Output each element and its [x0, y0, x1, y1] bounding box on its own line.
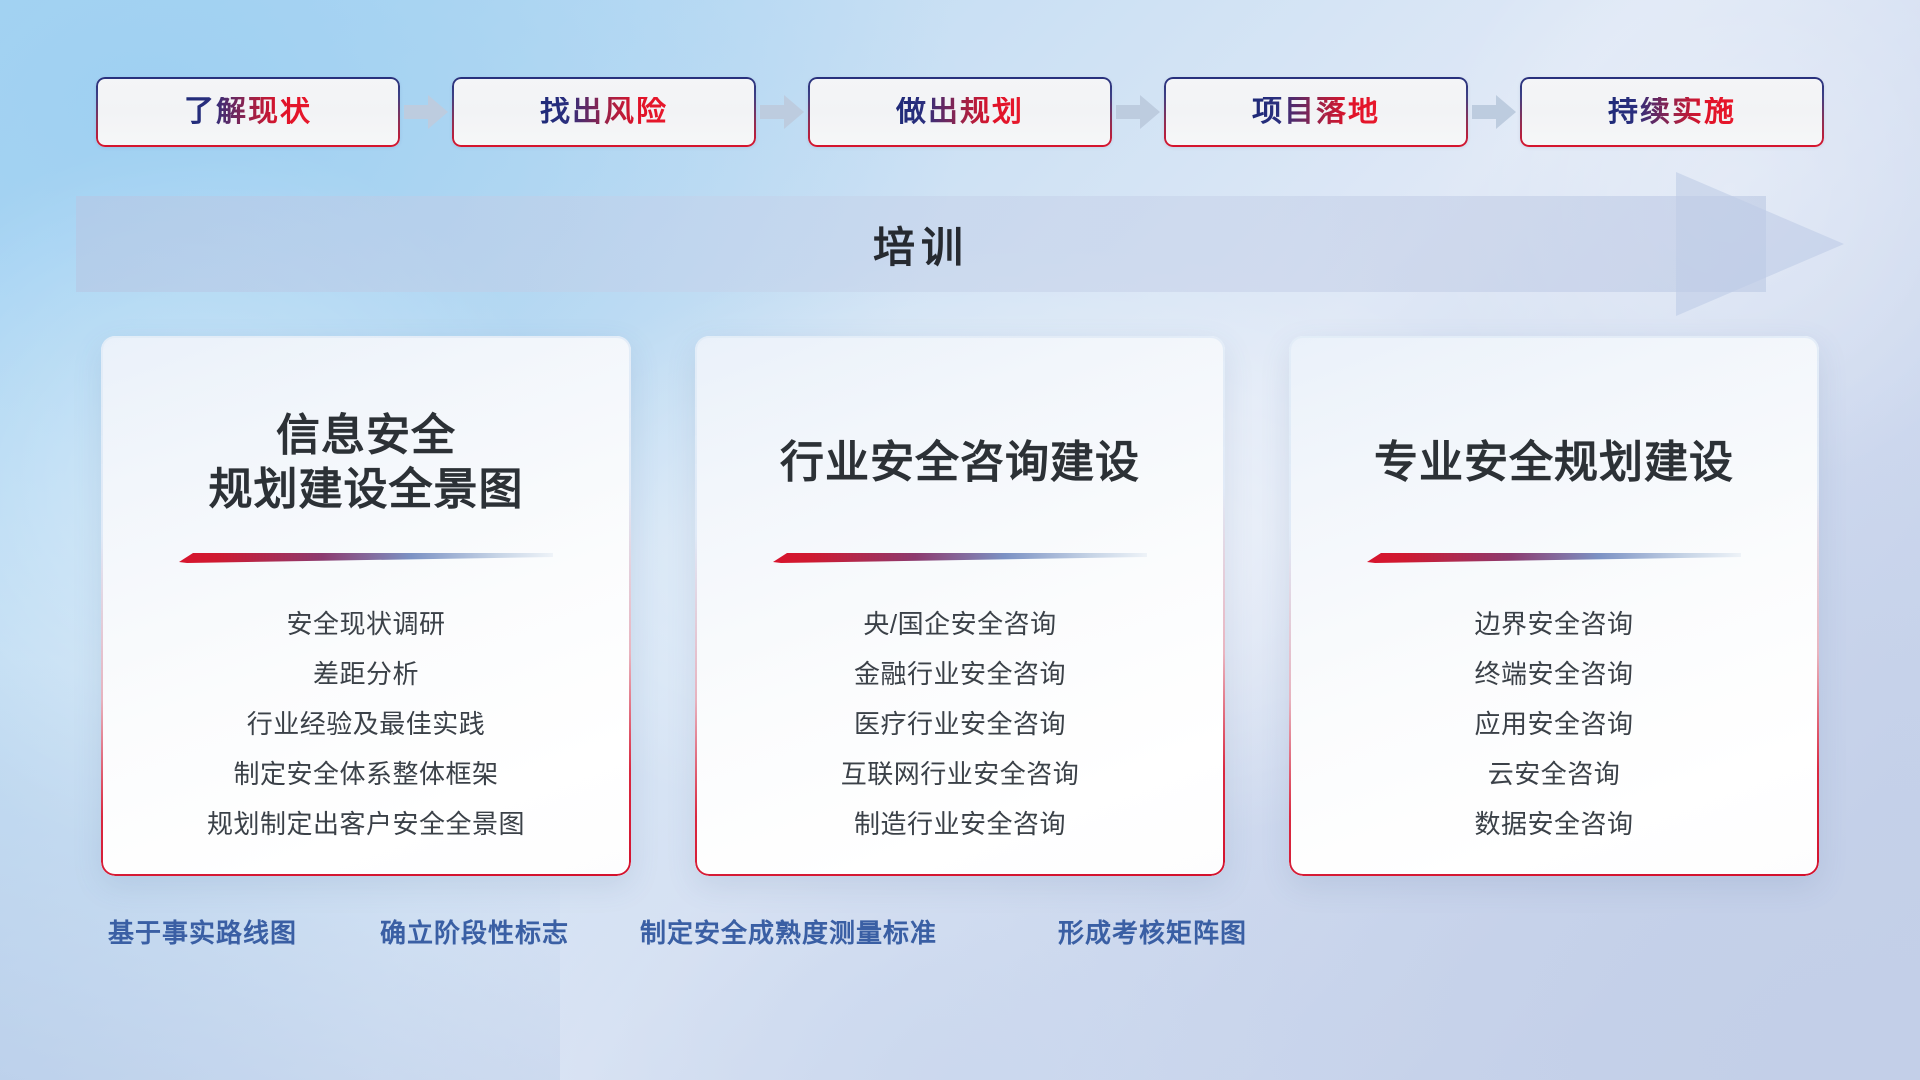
- step-label: 项目落地: [1252, 97, 1380, 127]
- list-item: 制定安全体系整体框架: [233, 761, 498, 787]
- list-item: 边界安全咨询: [1474, 611, 1633, 637]
- list-item: 医疗行业安全咨询: [854, 711, 1066, 737]
- step-box-4[interactable]: 项目落地: [1164, 77, 1468, 147]
- list-item: 央/国企安全咨询: [863, 611, 1056, 637]
- list-item: 终端安全咨询: [1474, 661, 1633, 687]
- training-banner: 培训: [76, 196, 1844, 292]
- card-title: 行业安全咨询建设: [780, 336, 1140, 538]
- list-item: 安全现状调研: [286, 611, 445, 637]
- service-card-1[interactable]: 信息安全 规划建设全景图 安全现状调研 差: [101, 336, 631, 876]
- list-item: 规划制定出客户安全全景图: [207, 811, 525, 837]
- card-title-line: 信息安全: [209, 409, 524, 463]
- step-label: 持续实施: [1608, 97, 1736, 127]
- arrow-right-icon: [1468, 77, 1520, 147]
- list-item: 互联网行业安全咨询: [841, 761, 1080, 787]
- gradient-divider-icon: [773, 552, 1147, 563]
- list-item: 云安全咨询: [1488, 761, 1621, 787]
- gradient-divider-icon: [179, 552, 553, 563]
- list-item: 差距分析: [313, 661, 419, 687]
- arrow-right-icon: [1112, 77, 1164, 147]
- service-card-row: 信息安全 规划建设全景图 安全现状调研 差: [0, 336, 1920, 876]
- list-item: 应用安全咨询: [1474, 711, 1633, 737]
- card-item-list: 边界安全咨询 终端安全咨询 应用安全咨询 云安全咨询 数据安全咨询: [1289, 611, 1819, 861]
- list-item: 数据安全咨询: [1474, 811, 1633, 837]
- card-title-line: 专业安全规划建设: [1374, 436, 1734, 490]
- card-item-list: 央/国企安全咨询 金融行业安全咨询 医疗行业安全咨询 互联网行业安全咨询 制造行…: [695, 611, 1225, 861]
- list-item: 金融行业安全咨询: [854, 661, 1066, 687]
- step-box-2[interactable]: 找出风险: [452, 77, 756, 147]
- footnote-label-3: 制定安全成熟度测量标准: [640, 920, 937, 946]
- card-title-line: 行业安全咨询建设: [780, 436, 1140, 490]
- list-item: 制造行业安全咨询: [854, 811, 1066, 837]
- footnote-label-1: 基于事实路线图: [108, 920, 297, 946]
- footnote-label-2: 确立阶段性标志: [380, 920, 569, 946]
- footnote-row: 基于事实路线图 确立阶段性标志 制定安全成熟度测量标准 形成考核矩阵图: [0, 920, 1920, 968]
- step-label: 找出风险: [540, 97, 668, 127]
- gradient-divider-icon: [1367, 552, 1741, 563]
- arrow-right-icon: [400, 77, 452, 147]
- step-box-3[interactable]: 做出规划: [808, 77, 1112, 147]
- list-item: 行业经验及最佳实践: [247, 711, 486, 737]
- process-step-flow: 了解现状 找出风险 做出规划 项目落地 持续实施: [0, 76, 1920, 148]
- banner-title: 培训: [76, 196, 1766, 292]
- card-item-list: 安全现状调研 差距分析 行业经验及最佳实践 制定安全体系整体框架 规划制定出客户…: [101, 611, 631, 861]
- step-box-5[interactable]: 持续实施: [1520, 77, 1824, 147]
- card-title-line: 规划建设全景图: [209, 463, 524, 517]
- step-label: 了解现状: [184, 97, 312, 127]
- card-title: 信息安全 规划建设全景图: [209, 336, 524, 538]
- arrow-right-icon: [756, 77, 808, 147]
- service-card-3[interactable]: 专业安全规划建设 边界安全咨询 终端安全咨询: [1289, 336, 1819, 876]
- step-label: 做出规划: [896, 97, 1024, 127]
- card-title: 专业安全规划建设: [1374, 336, 1734, 538]
- step-box-1[interactable]: 了解现状: [96, 77, 400, 147]
- service-card-2[interactable]: 行业安全咨询建设 央/国企安全咨询 金融行业安全咨询: [695, 336, 1225, 876]
- footnote-label-4: 形成考核矩阵图: [1058, 920, 1247, 946]
